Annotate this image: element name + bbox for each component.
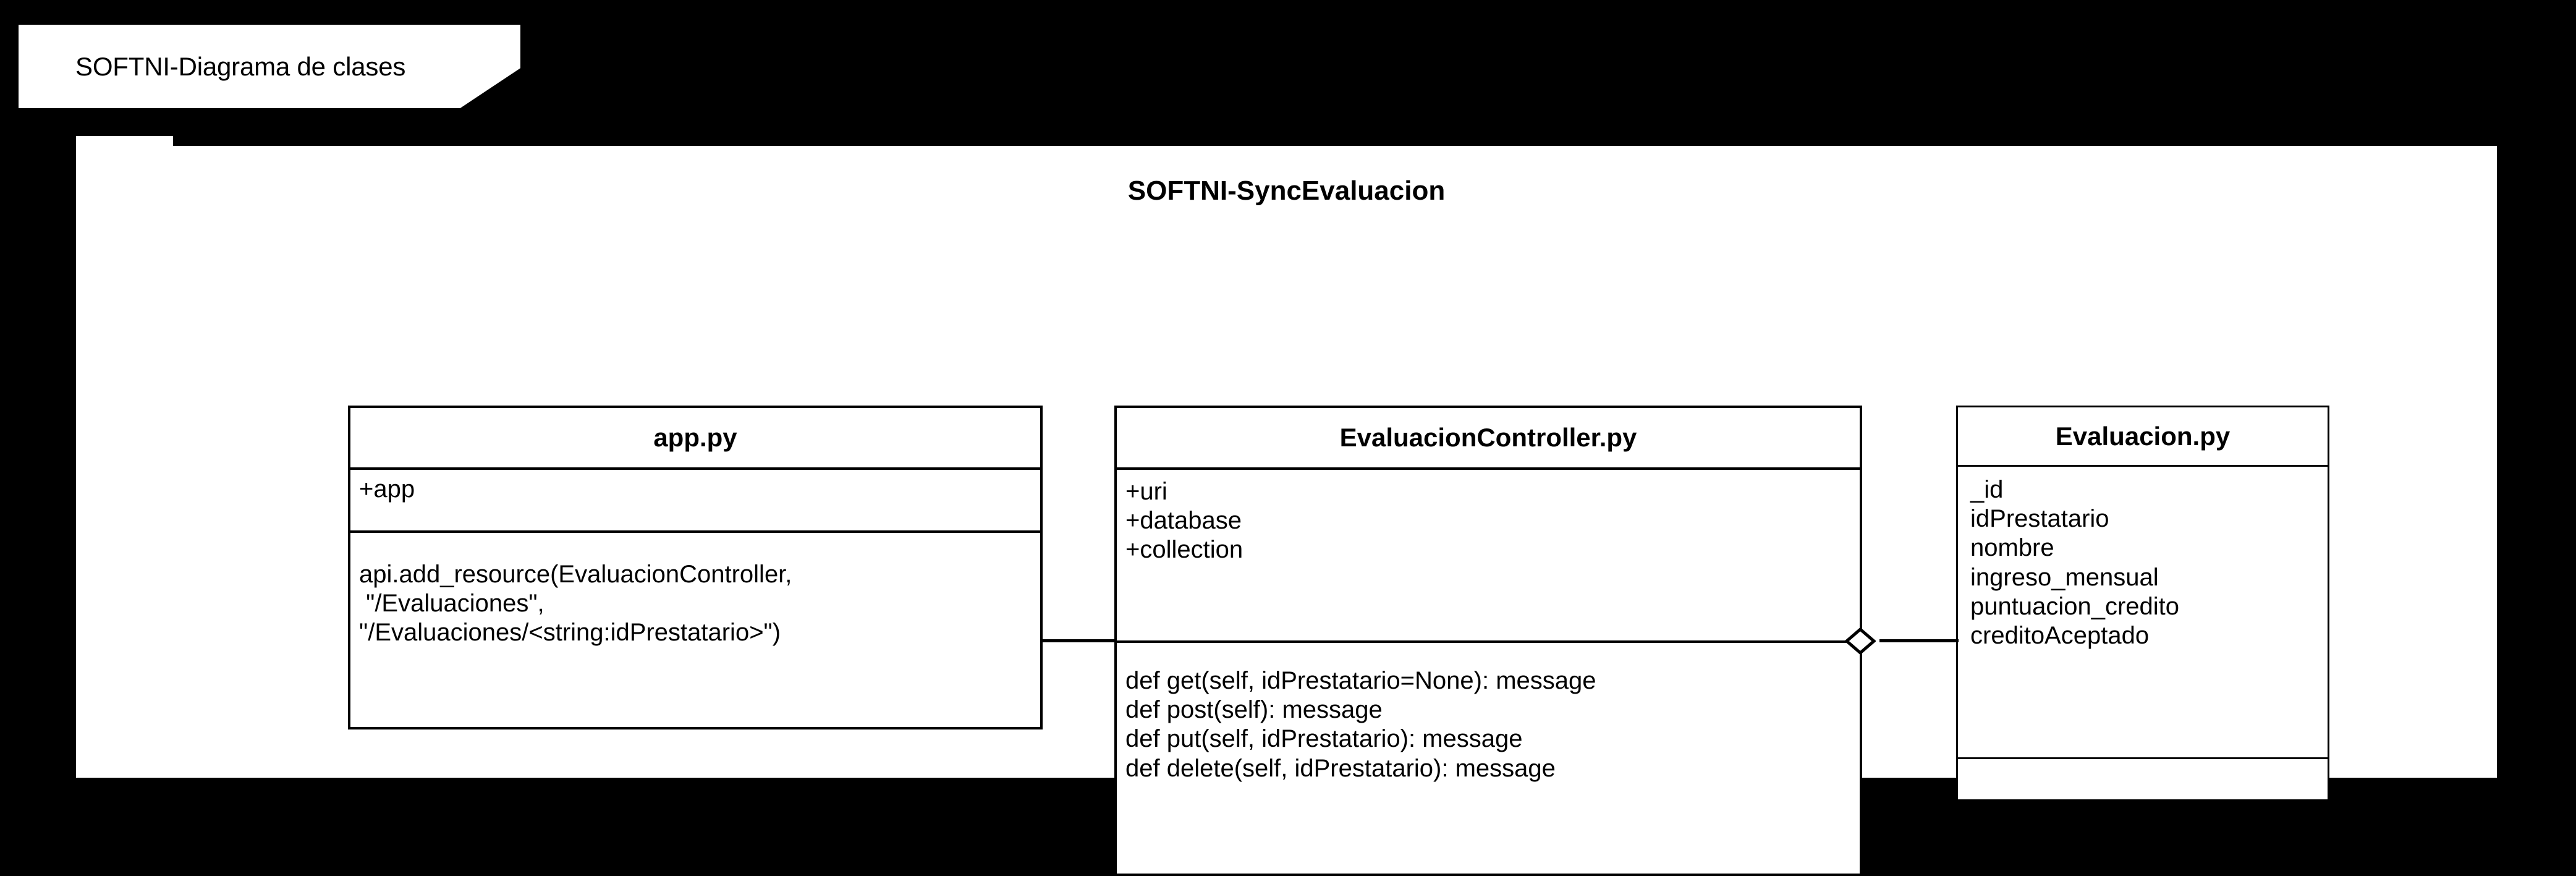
class-attributes-app-py: +app [350,470,1040,530]
class-name-app-py: app.py [350,408,1040,470]
package-tab-stub [76,136,173,147]
class-name-evaluacioncontroller-py: EvaluacionController.py [1117,408,1860,470]
package-body: SOFTNI-SyncEvaluacion app.py +app api.ad… [76,146,2497,778]
class-attributes-evaluacion-py: _id idPrestatario nombre ingreso_mensual… [1958,467,2328,757]
class-box-app-py[interactable]: app.py +app api.add_resource(EvaluacionC… [348,406,1043,729]
class-box-evaluacion-py[interactable]: Evaluacion.py _id idPrestatario nombre i… [1956,406,2329,801]
aggregation-diamond-icon [1845,626,1876,657]
class-attributes-evaluacioncontroller-py: +uri +database +collection [1117,470,1860,640]
diagram-title-label: SOFTNI-Diagrama de clases [19,52,405,82]
class-name-evaluacion-py: Evaluacion.py [1958,407,2328,467]
package-title-label: SOFTNI-SyncEvaluacion [76,176,2497,206]
class-operations-evaluacioncontroller-py: def get(self, idPrestatario=None): messa… [1117,640,1860,874]
class-operations-app-py: api.add_resource(EvaluacionController, "… [350,530,1040,727]
class-box-evaluacioncontroller-py[interactable]: EvaluacionController.py +uri +database +… [1114,406,1862,876]
class-operations-evaluacion-py [1958,757,2328,796]
association-line-app-to-controller[interactable] [1040,639,1117,642]
diagram-title-tab: SOFTNI-Diagrama de clases [19,25,520,108]
aggregation-line-controller-to-evaluacion[interactable] [1879,639,1959,642]
